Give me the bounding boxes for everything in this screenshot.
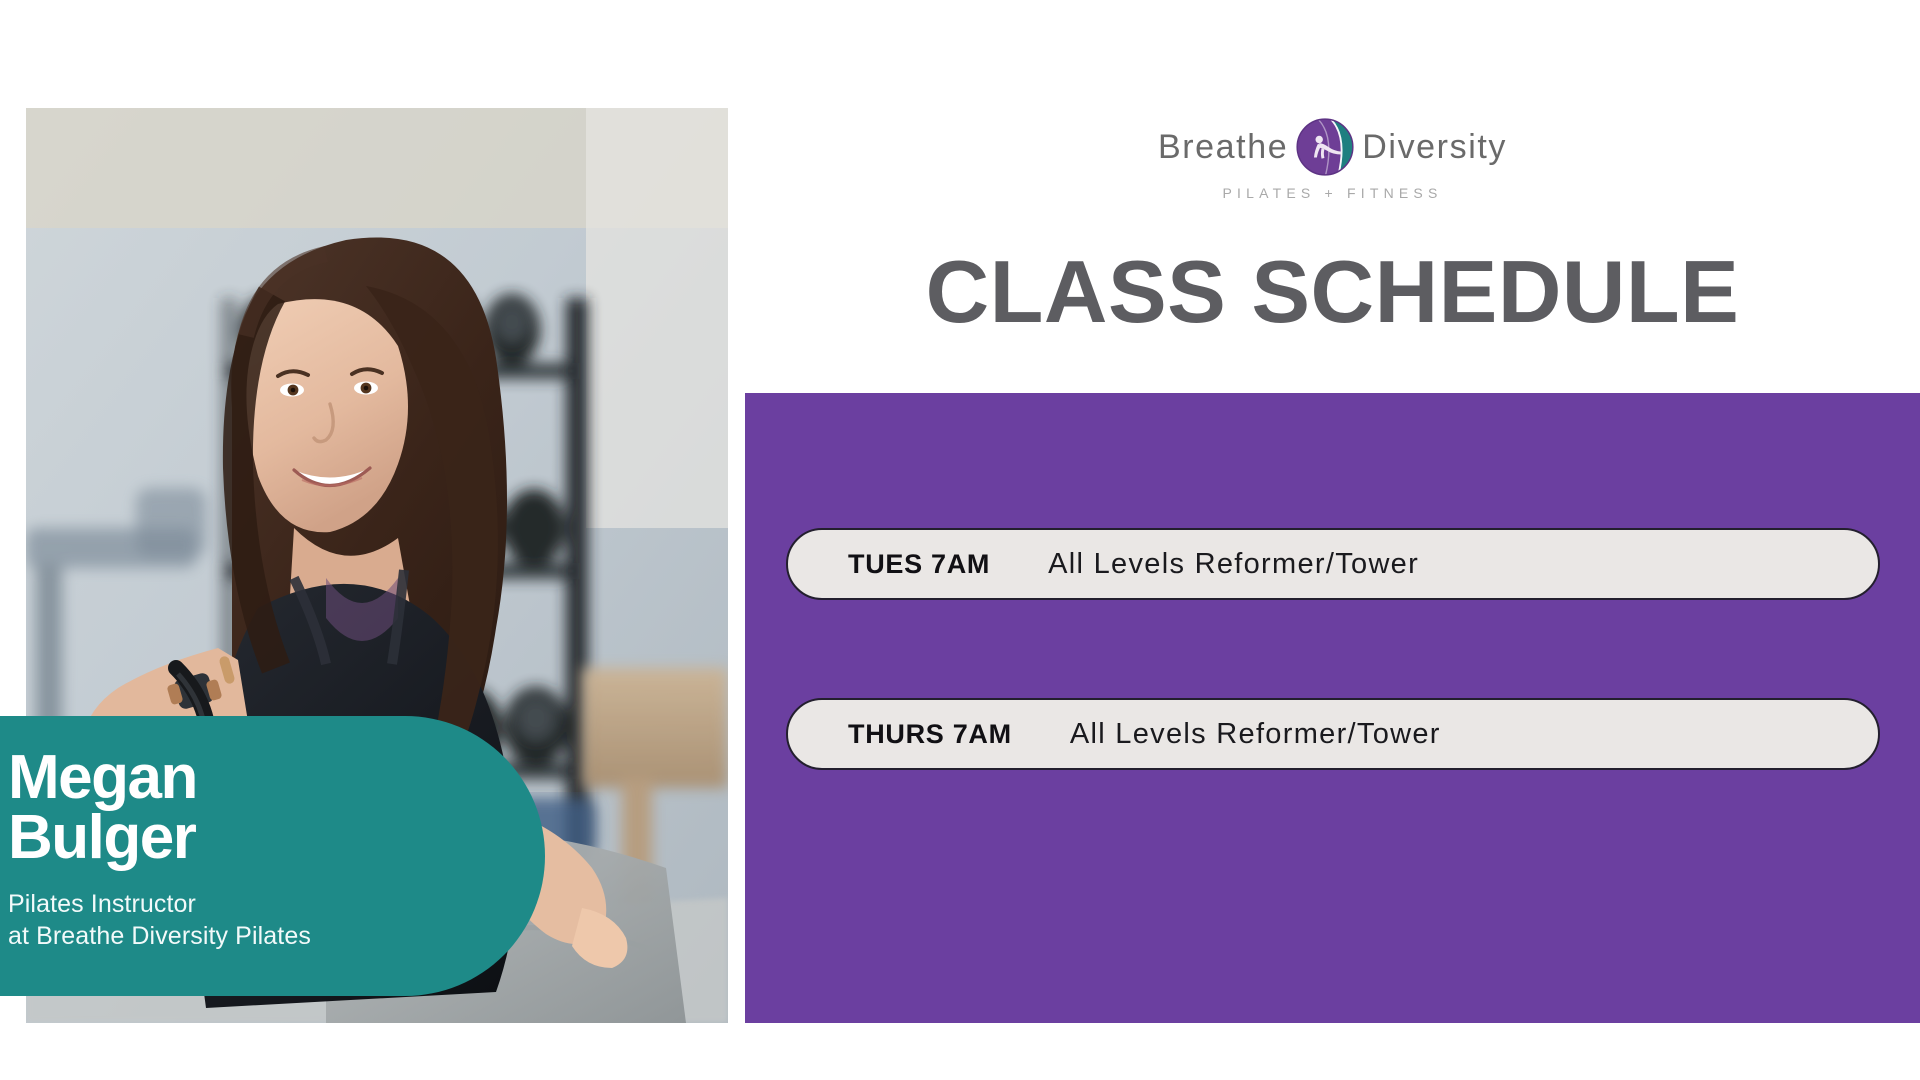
instructor-role-line-1: Pilates Instructor xyxy=(8,888,545,920)
instructor-role: Pilates Instructor at Breathe Diversity … xyxy=(8,888,545,952)
class-title: All Levels Reformer/Tower xyxy=(1048,548,1419,581)
instructor-role-line-2: at Breathe Diversity Pilates xyxy=(8,920,545,952)
class-row[interactable]: THURS 7AM All Levels Reformer/Tower xyxy=(786,698,1880,770)
class-time: TUES 7AM xyxy=(848,549,990,580)
brand-word-left: Breathe xyxy=(1158,128,1288,167)
brand-tagline: PILATES + FITNESS xyxy=(1222,185,1442,201)
brand-word-right: Diversity xyxy=(1362,128,1507,167)
brand-lockup: Breathe D xyxy=(745,118,1920,201)
class-title: All Levels Reformer/Tower xyxy=(1070,718,1441,751)
schedule-panel: TUES 7AM All Levels Reformer/Tower THURS… xyxy=(745,393,1920,1023)
class-row[interactable]: TUES 7AM All Levels Reformer/Tower xyxy=(786,528,1880,600)
class-list: TUES 7AM All Levels Reformer/Tower THURS… xyxy=(745,528,1920,770)
class-time: THURS 7AM xyxy=(848,719,1012,750)
slide-canvas: Breathe PILATES + FITNESS Santa Rosa, CA xyxy=(0,0,1920,1080)
breathe-diversity-circle-logo-icon xyxy=(1296,118,1354,176)
instructor-first-name: Megan xyxy=(8,748,545,808)
page-title: CLASS SCHEDULE xyxy=(745,248,1920,336)
brand-row: Breathe D xyxy=(1158,118,1507,176)
instructor-last-name: Bulger xyxy=(8,808,545,868)
instructor-name-card: Megan Bulger Pilates Instructor at Breat… xyxy=(0,716,545,996)
